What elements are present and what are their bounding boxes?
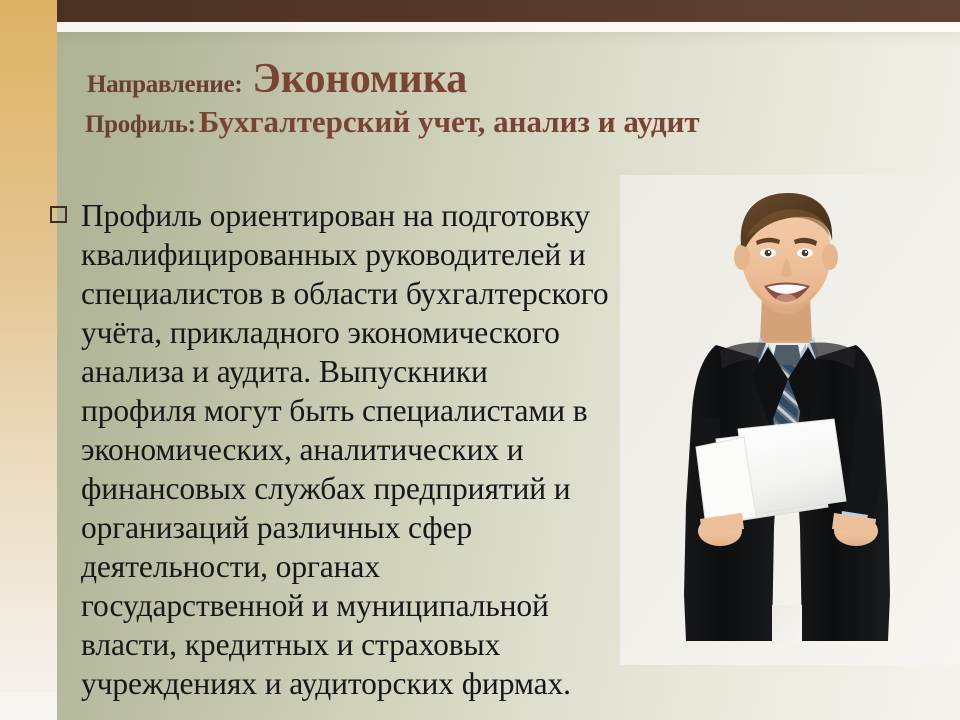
direction-value: Экономика [252,56,467,102]
left-gold-accent-bar [0,0,57,692]
presentation-slide: Направление:Экономика Профиль:Бухгалтерс… [0,0,960,720]
profile-label: Профиль: [85,111,196,138]
slide-body-block: Профиль ориентирован на подготовку квали… [50,196,610,703]
title-line-profile: Профиль:Бухгалтерский учет, анализ и ауд… [57,106,960,137]
square-bullet-icon [50,206,67,223]
direction-label: Направление: [87,71,242,98]
profile-value: Бухгалтерский учет, анализ и аудит [199,104,700,139]
slide-title-block: Направление:Экономика Профиль:Бухгалтерс… [57,58,960,137]
slide-background-lower-left [0,690,57,720]
top-light-strip [57,22,960,32]
businessman-photo [620,175,960,665]
top-brown-accent-bar [57,0,960,22]
title-line-direction: Направление:Экономика [57,58,960,100]
bullet-item-text: Профиль ориентирован на подготовку квали… [81,196,610,703]
bullet-list-item: Профиль ориентирован на подготовку квали… [50,196,610,703]
